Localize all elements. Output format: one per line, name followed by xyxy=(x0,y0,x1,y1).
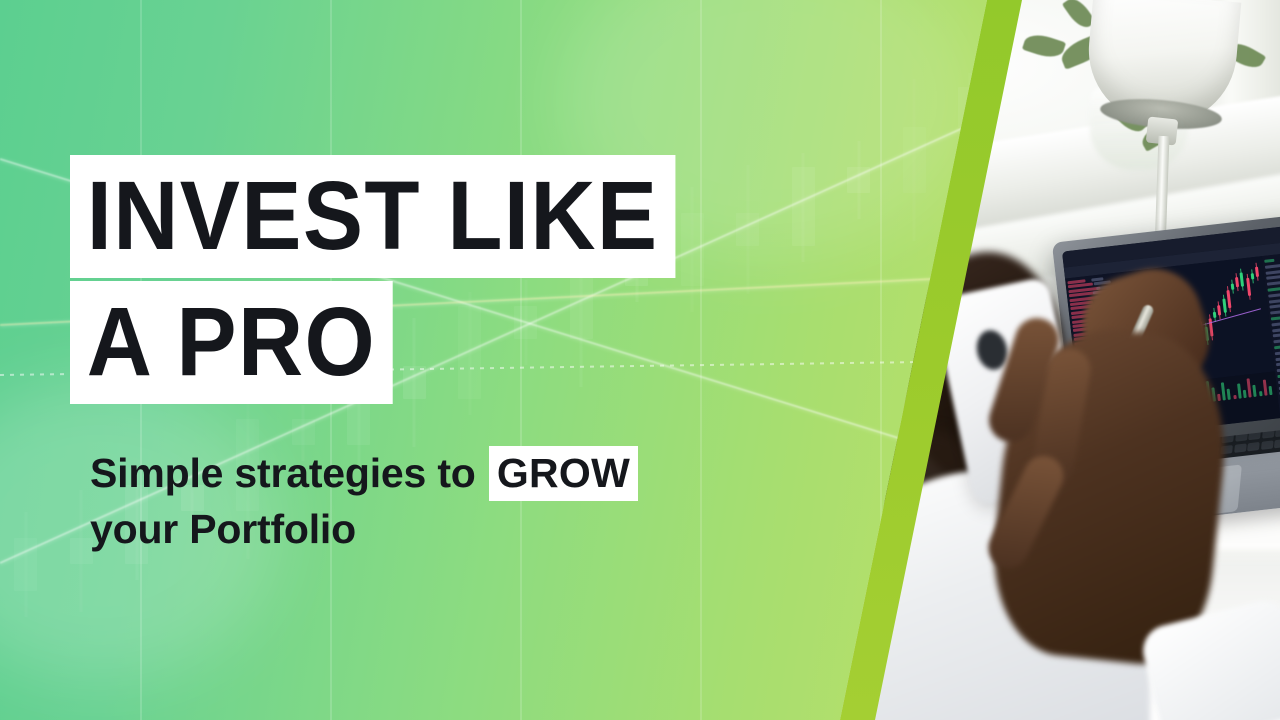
subheadline-line-2: your Portfolio xyxy=(90,506,356,552)
subheadline-prefix: Simple strategies to xyxy=(90,450,476,496)
copy-block: INVEST LIKE A PRO Simple strategies to G… xyxy=(0,0,1280,720)
headline-line-2-text: A PRO xyxy=(70,281,393,404)
headline-line-2: A PRO xyxy=(70,281,417,404)
subheadline-emphasis: GROW xyxy=(489,446,638,501)
subheadline-line-1: Simple strategies to GROW xyxy=(90,446,638,501)
thumbnail-canvas: INVEST LIKE A PRO Simple strategies to G… xyxy=(0,0,1280,720)
headline-line-1: INVEST LIKE xyxy=(70,155,721,278)
headline-line-1-text: INVEST LIKE xyxy=(70,155,675,278)
